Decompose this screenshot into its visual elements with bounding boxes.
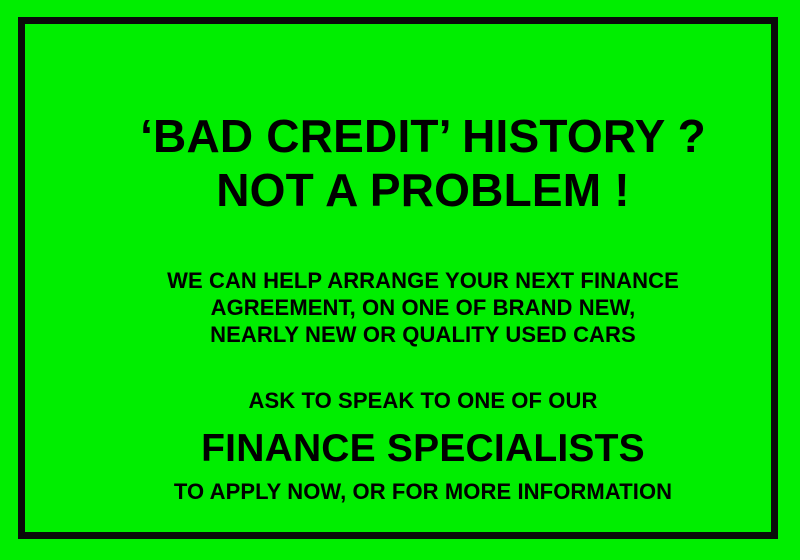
body-line-3: NEARLY NEW OR QUALITY USED CARS xyxy=(50,321,796,348)
headline-line-2: NOT A PROBLEM ! xyxy=(50,164,796,218)
advertisement-poster: ‘BAD CREDIT’ HISTORY ? NOT A PROBLEM ! W… xyxy=(0,0,800,560)
cta-lead-line: ASK TO SPEAK TO ONE OF OUR xyxy=(50,388,796,414)
poster-border-frame: ‘BAD CREDIT’ HISTORY ? NOT A PROBLEM ! W… xyxy=(18,17,778,539)
cta-closing-line: TO APPLY NOW, OR FOR MORE INFORMATION xyxy=(50,479,796,505)
cta-emphasis-line: FINANCE SPECIALISTS xyxy=(50,425,796,473)
call-to-action-block: ASK TO SPEAK TO ONE OF OUR FINANCE SPECI… xyxy=(50,388,796,505)
headline-block: ‘BAD CREDIT’ HISTORY ? NOT A PROBLEM ! xyxy=(50,110,796,218)
poster-content: ‘BAD CREDIT’ HISTORY ? NOT A PROBLEM ! W… xyxy=(50,48,796,556)
body-block: WE CAN HELP ARRANGE YOUR NEXT FINANCE AG… xyxy=(50,267,796,349)
body-line-1: WE CAN HELP ARRANGE YOUR NEXT FINANCE xyxy=(50,267,796,294)
body-line-2: AGREEMENT, ON ONE OF BRAND NEW, xyxy=(50,294,796,321)
headline-line-1: ‘BAD CREDIT’ HISTORY ? xyxy=(50,110,796,164)
